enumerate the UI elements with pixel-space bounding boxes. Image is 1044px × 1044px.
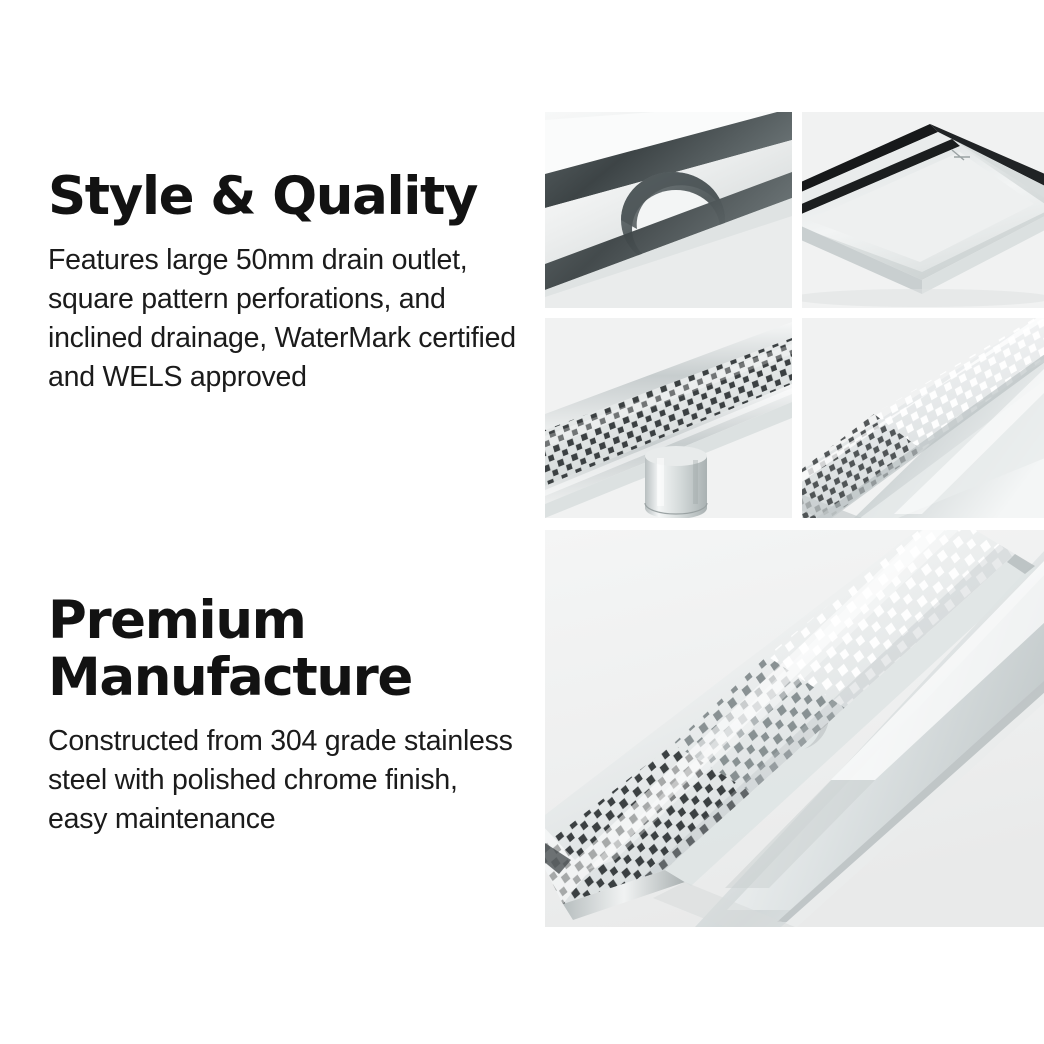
drain-outlet-closeup-photo — [545, 112, 792, 308]
feature-heading-premium-manufacture: Premium Manufacture — [48, 592, 518, 706]
feature-heading-style-quality: Style & Quality — [48, 168, 518, 225]
grate-with-outlet-spigot-photo — [545, 318, 792, 518]
perforated-grate-angled-photo — [802, 318, 1044, 518]
product-feature-page: Style & Quality Features large 50mm drai… — [0, 0, 1044, 1044]
feature-body-style-quality: Features large 50mm drain outlet, square… — [48, 241, 518, 397]
feature-text-column: Style & Quality Features large 50mm drai… — [0, 0, 540, 1044]
feature-block-premium-manufacture: Premium Manufacture Constructed from 304… — [48, 592, 518, 839]
product-photo-gallery — [545, 112, 1044, 927]
feature-block-style-quality: Style & Quality Features large 50mm drai… — [48, 168, 518, 397]
hero-grate-and-channel-photo — [545, 530, 1044, 927]
channel-body-photo — [802, 112, 1044, 308]
feature-body-premium-manufacture: Constructed from 304 grade stainless ste… — [48, 722, 518, 839]
